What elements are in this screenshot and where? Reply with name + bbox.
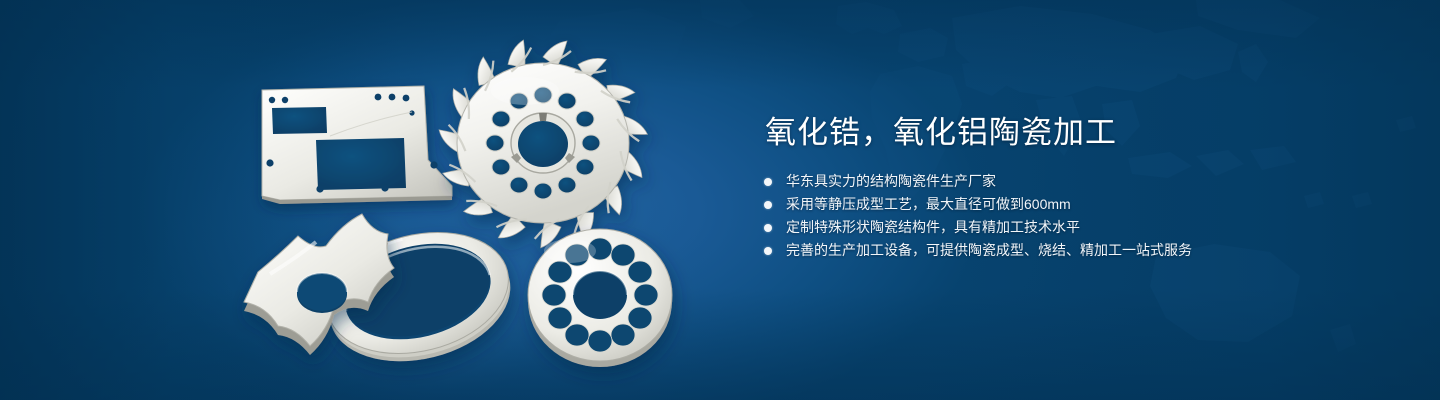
feature-item-3: 定制特殊形状陶瓷结构件，具有精加工技术水平 <box>762 216 1192 239</box>
bullet-dot-icon <box>764 247 772 255</box>
bullet-dot-icon <box>764 224 772 232</box>
banner-headline: 氧化锆，氧化铝陶瓷加工 <box>765 113 1117 153</box>
feature-item-1: 华东具实力的结构陶瓷件生产厂家 <box>762 170 1192 193</box>
feature-item-4: 完善的生产加工设备，可提供陶瓷成型、烧结、精加工一站式服务 <box>762 239 1192 262</box>
feature-item-label: 采用等静压成型工艺，最大直径可做到600mm <box>786 196 1071 212</box>
product-ceramic-impeller <box>439 40 647 248</box>
banner-feature-list: 华东具实力的结构陶瓷件生产厂家 采用等静压成型工艺，最大直径可做到600mm 定… <box>762 170 1192 262</box>
feature-item-2: 采用等静压成型工艺，最大直径可做到600mm <box>762 193 1192 216</box>
feature-item-label: 定制特殊形状陶瓷结构件，具有精加工技术水平 <box>786 219 1080 235</box>
product-ceramic-perforated-disc <box>528 229 672 367</box>
banner-text-column: 氧化锆，氧化铝陶瓷加工 华东具实力的结构陶瓷件生产厂家 采用等静压成型工艺，最大… <box>762 0 1362 400</box>
hero-banner: 氧化锆，氧化铝陶瓷加工 华东具实力的结构陶瓷件生产厂家 采用等静压成型工艺，最大… <box>0 0 1440 400</box>
product-photo-group <box>0 0 760 400</box>
bullet-dot-icon <box>764 201 772 209</box>
feature-item-label: 华东具实力的结构陶瓷件生产厂家 <box>786 173 996 189</box>
product-ceramic-machined-plate <box>262 86 452 204</box>
feature-item-label: 完善的生产加工设备，可提供陶瓷成型、烧结、精加工一站式服务 <box>786 242 1192 258</box>
bullet-dot-icon <box>764 178 772 186</box>
